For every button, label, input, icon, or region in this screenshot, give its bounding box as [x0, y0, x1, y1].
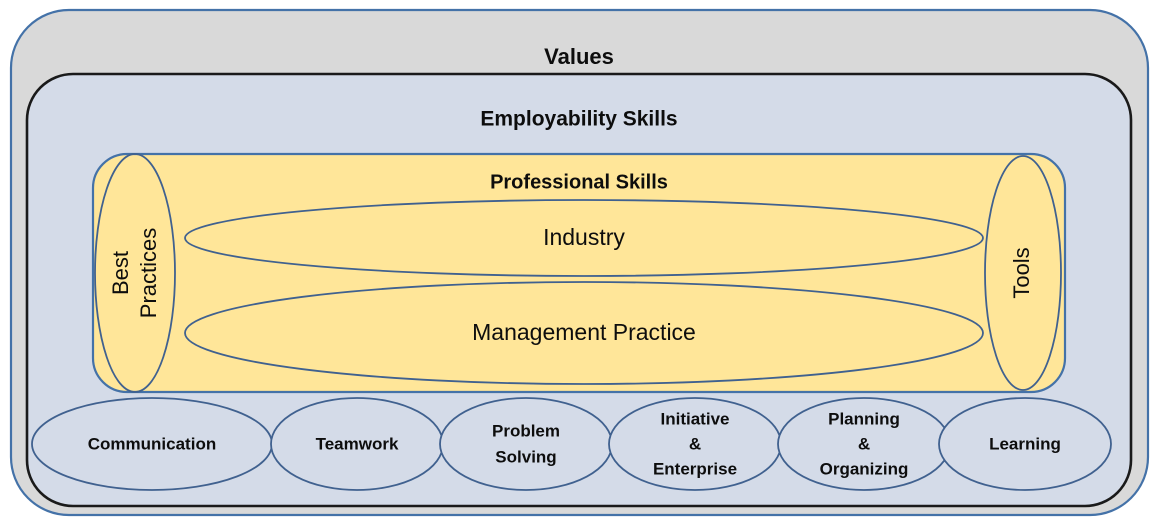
management-practice-label: Management Practice	[472, 319, 696, 345]
skill-label-planning-organizing-line1: Planning	[828, 409, 900, 428]
values-label: Values	[544, 44, 614, 69]
skill-ellipse-problem-solving[interactable]	[440, 398, 612, 490]
skill-label-communication: Communication	[88, 434, 216, 453]
best-practices-label-line2: Practices	[136, 228, 161, 318]
industry-label: Industry	[543, 224, 625, 250]
best-practices-label-line1: Best	[108, 251, 133, 295]
professional-skills-label: Professional Skills	[490, 171, 668, 193]
skill-label-planning-organizing-line3: Organizing	[820, 459, 909, 478]
skill-label-teamwork: Teamwork	[316, 434, 399, 453]
skill-label-problem-solving-line1: Problem	[492, 421, 560, 440]
tools-label: Tools	[1009, 247, 1034, 298]
skill-label-initiative-enterprise-line1: Initiative	[661, 409, 730, 428]
diagram-canvas: Values Employability Skills Professional…	[0, 0, 1159, 530]
employability-skills-label: Employability Skills	[480, 108, 677, 131]
skill-label-learning: Learning	[989, 434, 1061, 453]
skill-label-problem-solving-line2: Solving	[495, 447, 556, 466]
skill-label-initiative-enterprise-line2: &	[689, 434, 701, 453]
employability-framework-diagram: Values Employability Skills Professional…	[0, 0, 1159, 530]
skill-label-planning-organizing-line2: &	[858, 434, 870, 453]
skill-label-initiative-enterprise-line3: Enterprise	[653, 459, 737, 478]
